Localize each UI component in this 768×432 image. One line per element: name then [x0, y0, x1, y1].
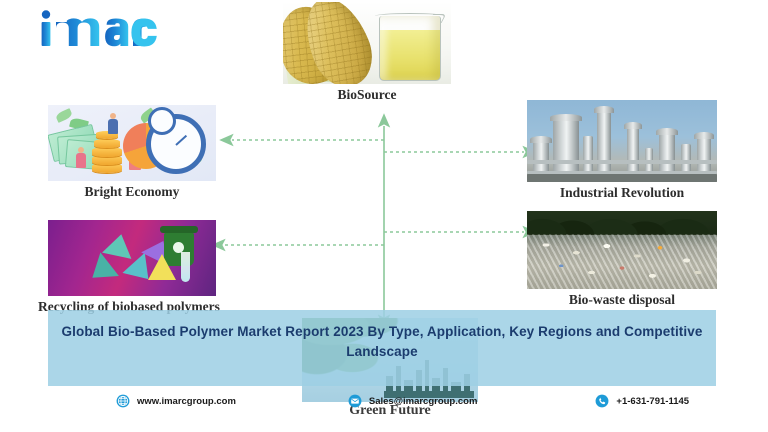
slide-canvas: BioSource	[0, 0, 768, 432]
biosource-image	[283, 2, 451, 84]
recycle-arrow-icon	[102, 231, 136, 259]
pipeline-icon	[527, 160, 717, 164]
person-icon	[74, 147, 88, 169]
report-title: Global Bio-Based Polymer Market Report 2…	[48, 322, 716, 361]
node-label-industrial-revolution: Industrial Revolution	[487, 185, 757, 200]
envelope-icon	[348, 394, 362, 408]
coin-icon	[94, 139, 120, 148]
phone-icon	[595, 394, 609, 408]
node-biosource: BioSource	[283, 2, 451, 84]
node-bright-economy: Bright Economy	[48, 105, 216, 181]
beaker-spout-icon	[429, 14, 447, 23]
footer-email-text: Sales@imarcgroup.com	[369, 396, 478, 407]
beaker-icon	[379, 16, 441, 81]
node-label-biosource: BioSource	[243, 87, 491, 102]
imarc-logo	[36, 8, 166, 50]
industrial-revolution-image	[527, 100, 717, 182]
waste-field-icon	[527, 234, 717, 289]
tree-line-icon	[527, 211, 717, 235]
node-label-biowaste-disposal: Bio-waste disposal	[487, 292, 757, 307]
coin-icon	[92, 147, 122, 157]
contact-footer: www.imarcgroup.com Sales@imarcgroup.com …	[48, 388, 716, 414]
bottom-whitespace	[0, 414, 768, 432]
test-tube-icon	[181, 252, 190, 282]
recycling-image	[48, 220, 216, 296]
node-biowaste-disposal: Bio-waste disposal	[527, 211, 717, 289]
footer-phone[interactable]: +1-631-791-1145	[595, 394, 689, 408]
footer-website-text: www.imarcgroup.com	[137, 396, 236, 407]
ground-icon	[527, 174, 717, 182]
globe-icon	[116, 394, 130, 408]
footer-website[interactable]: www.imarcgroup.com	[116, 394, 236, 408]
flask-icon	[148, 254, 176, 280]
biowaste-disposal-image	[527, 211, 717, 289]
node-industrial-revolution: Industrial Revolution	[527, 100, 717, 182]
footer-phone-text: +1-631-791-1145	[616, 396, 689, 407]
node-recycling: Recycling of biobased polymers	[48, 220, 216, 296]
recycle-arrow-icon	[83, 252, 119, 289]
node-label-bright-economy: Bright Economy	[8, 184, 256, 199]
footer-email[interactable]: Sales@imarcgroup.com	[348, 394, 478, 408]
person-icon	[106, 113, 120, 135]
small-clock-icon	[148, 107, 176, 135]
bright-economy-image	[48, 105, 216, 181]
